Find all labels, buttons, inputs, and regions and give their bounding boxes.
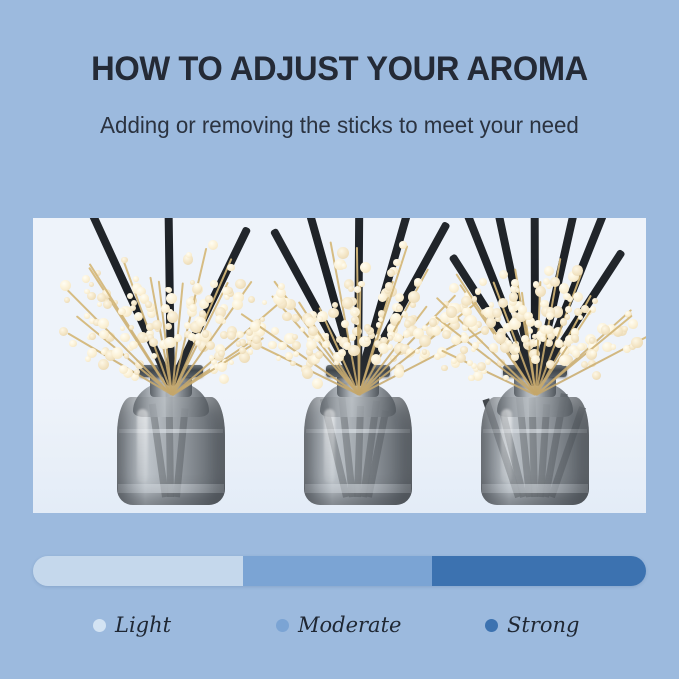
legend-item-strong: Strong (485, 608, 579, 642)
intensity-segment-light (33, 556, 243, 586)
intensity-segment-moderate (243, 556, 432, 586)
legend-label-strong: Strong (507, 613, 579, 637)
bottle-highlight (324, 409, 335, 483)
product-photo-panel (33, 218, 646, 513)
bottle-base-band (305, 484, 411, 493)
bottle-base-band (118, 484, 224, 493)
legend-label-moderate: Moderate (298, 613, 401, 637)
page-subtitle: Adding or removing the sticks to meet yo… (10, 112, 669, 139)
liquid-level (483, 429, 587, 433)
scene-strong-diffuser (415, 218, 646, 513)
page-title: HOW TO ADJUST YOUR AROMA (14, 50, 666, 89)
intensity-gradient-bar (33, 556, 646, 586)
legend-item-light: Light (93, 608, 171, 642)
bottle-highlight (137, 409, 148, 483)
legend-dot-light (93, 619, 106, 632)
aroma-infographic-poster: HOW TO ADJUST YOUR AROMA Adding or remov… (0, 0, 679, 679)
liquid-level (306, 429, 410, 433)
legend-item-moderate: Moderate (276, 608, 401, 642)
intensity-segment-strong (432, 556, 646, 586)
bottle-base-band (482, 484, 588, 493)
legend-dot-moderate (276, 619, 289, 632)
bottle-highlight (501, 409, 512, 483)
legend-dot-strong (485, 619, 498, 632)
legend-label-light: Light (115, 613, 171, 637)
liquid-level (119, 429, 223, 433)
intensity-legend: Light Moderate Strong (33, 608, 646, 648)
